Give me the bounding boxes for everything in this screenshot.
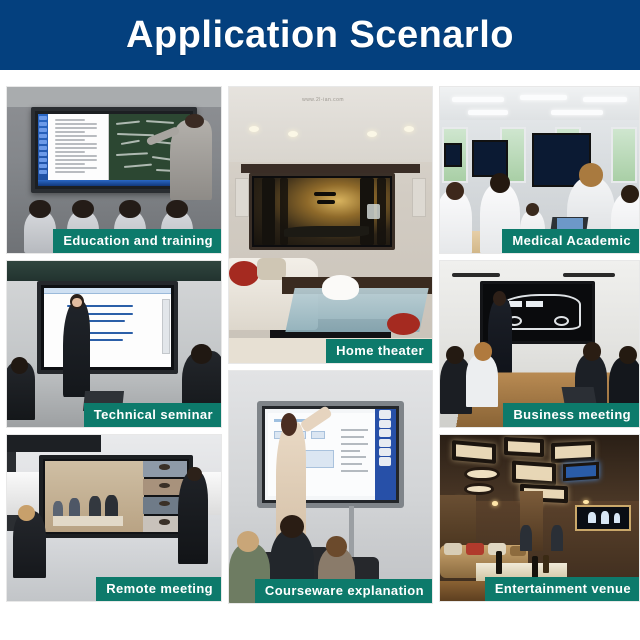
- caption-home-theater: Home theater: [326, 339, 432, 363]
- caption-education-and-training: Education and training: [53, 229, 221, 253]
- caption-technical-seminar: Technical seminar: [84, 403, 221, 427]
- scenario-card-home-theater[interactable]: www.2l-ian.com: [228, 86, 433, 364]
- photo-living-room-projector-screen: www.2l-ian.com: [229, 87, 432, 363]
- caption-medical-academic: Medical Academic: [502, 229, 639, 253]
- scenario-card-education-and-training[interactable]: Education and training: [6, 86, 222, 254]
- page-title: Application Scenarlo: [126, 16, 514, 54]
- scenario-gallery: Education and training: [6, 86, 634, 604]
- scenario-card-courseware-explanation[interactable]: Courseware explanation: [228, 370, 433, 604]
- middle-column: www.2l-ian.com: [228, 86, 433, 604]
- caption-remote-meeting: Remote meeting: [96, 577, 221, 601]
- page-banner: Application Scenarlo: [0, 0, 640, 70]
- left-column: Education and training: [6, 86, 222, 604]
- scenario-card-entertainment-venue[interactable]: Entertainment venue: [439, 434, 640, 602]
- caption-business-meeting: Business meeting: [503, 403, 639, 427]
- scenario-card-medical-academic[interactable]: Medical Academic: [439, 86, 640, 254]
- application-scenario-poster: Application Scenarlo: [0, 0, 640, 640]
- caption-courseware-explanation: Courseware explanation: [255, 579, 432, 603]
- photo-lecturer-touchscreen-audience: [229, 371, 432, 603]
- right-column: Medical Academic: [439, 86, 640, 604]
- scenario-card-remote-meeting[interactable]: Remote meeting: [6, 434, 222, 602]
- caption-entertainment-venue: Entertainment venue: [485, 577, 639, 601]
- scenario-card-business-meeting[interactable]: Business meeting: [439, 260, 640, 428]
- scenario-card-technical-seminar[interactable]: Technical seminar: [6, 260, 222, 428]
